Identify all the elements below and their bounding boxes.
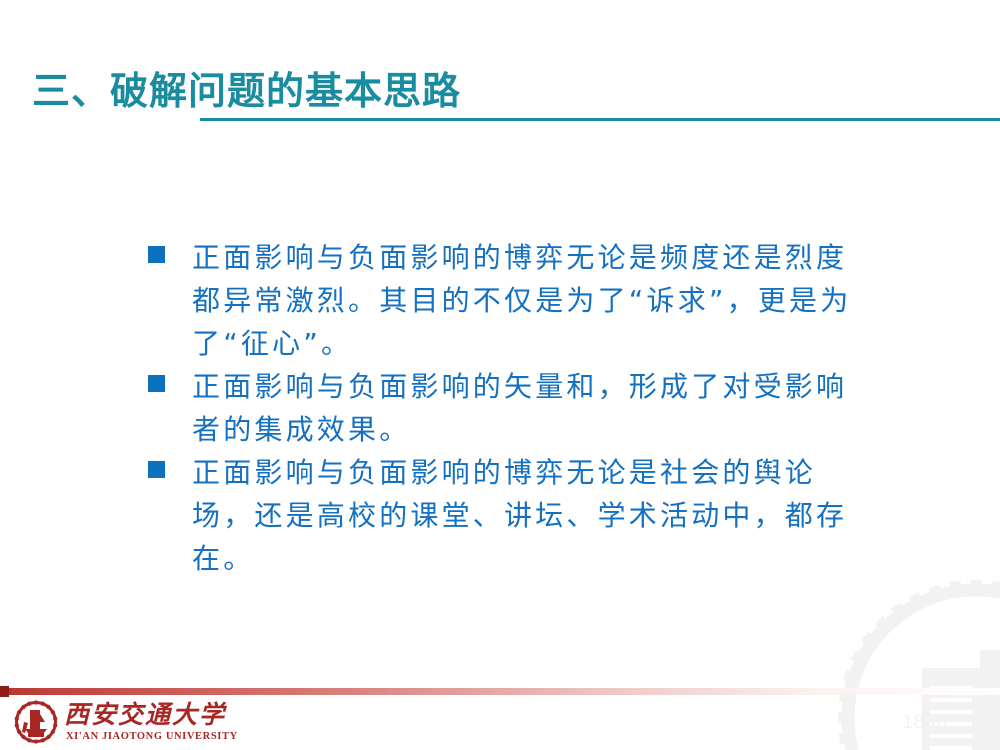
title-block: 三、破解问题的基本思路 <box>0 68 1000 124</box>
square-bullet-icon <box>148 246 165 263</box>
page-title: 三、破解问题的基本思路 <box>32 68 461 116</box>
list-item: 正面影响与负面影响的博弈无论是社会的舆论场，还是高校的课堂、讲坛、学术活动中，都… <box>148 451 868 580</box>
slide: 三、破解问题的基本思路 正面影响与负面影响的博弈无论是频度还是烈度都异常激烈。其… <box>0 0 1000 750</box>
square-bullet-icon <box>148 461 165 478</box>
university-emblem-icon <box>14 700 58 744</box>
list-item: 正面影响与负面影响的博弈无论是频度还是烈度都异常激烈。其目的不仅是为了“诉求”，… <box>148 236 868 365</box>
footer-divider-cap <box>0 686 9 697</box>
university-logo: 西安交通大学 XI'AN JIAOTONG UNIVERSITY <box>14 698 238 746</box>
square-bullet-icon <box>148 375 165 392</box>
logo-chinese-name: 西安交通大学 <box>64 701 238 729</box>
watermark-year: 1896 <box>902 712 948 734</box>
list-item-text: 正面影响与负面影响的博弈无论是频度还是烈度都异常激烈。其目的不仅是为了“诉求”，… <box>192 236 868 365</box>
list-item: 正面影响与负面影响的矢量和，形成了对受影响者的集成效果。 <box>148 365 868 451</box>
list-item-text: 正面影响与负面影响的博弈无论是社会的舆论场，还是高校的课堂、讲坛、学术活动中，都… <box>192 451 868 580</box>
bullet-list: 正面影响与负面影响的博弈无论是频度还是烈度都异常激烈。其目的不仅是为了“诉求”，… <box>148 236 868 580</box>
title-underline <box>200 118 1000 121</box>
logo-wordmark: 西安交通大学 XI'AN JIAOTONG UNIVERSITY <box>64 701 238 743</box>
list-item-text: 正面影响与负面影响的矢量和，形成了对受影响者的集成效果。 <box>192 365 868 451</box>
logo-english-name: XI'AN JIAOTONG UNIVERSITY <box>66 730 238 743</box>
footer-divider <box>0 688 1000 695</box>
